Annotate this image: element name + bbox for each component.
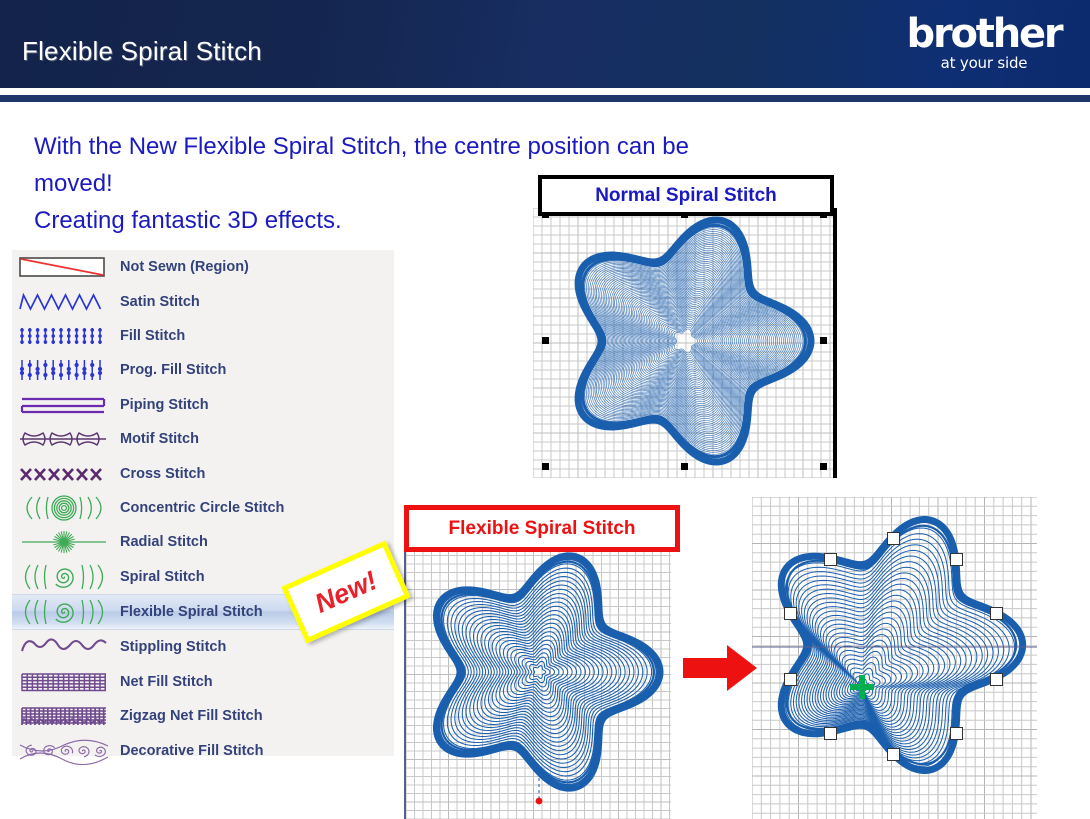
stitch-list-item[interactable]: Piping Stitch xyxy=(12,388,394,422)
transform-arrow-icon xyxy=(683,643,757,693)
brother-logo: brother at your side xyxy=(896,14,1072,76)
outline-node-handle[interactable] xyxy=(887,532,900,545)
flexible-spiral-label: Flexible Spiral Stitch xyxy=(404,505,680,552)
stitch-list-item[interactable]: Radial Stitch xyxy=(12,525,394,559)
header-divider xyxy=(0,95,1090,102)
stitch-list-item-label: Cross Stitch xyxy=(120,466,205,482)
outline-node-handle[interactable] xyxy=(887,748,900,761)
satin-stitch-icon xyxy=(18,288,110,316)
stitch-list-item[interactable]: Concentric Circle Stitch xyxy=(12,491,394,525)
flexible-spiral-after-design xyxy=(752,497,1037,819)
new-badge-label: New! xyxy=(311,567,381,618)
outline-node-handle[interactable] xyxy=(824,553,837,566)
page-title: Flexible Spiral Stitch xyxy=(22,36,262,67)
brand-tagline: at your side xyxy=(896,55,1072,71)
page-header: Flexible Spiral Stitch brother at your s… xyxy=(0,0,1090,88)
selection-handle[interactable] xyxy=(542,337,549,344)
outline-node-handle[interactable] xyxy=(950,553,963,566)
stitch-list-item-label: Prog. Fill Stitch xyxy=(120,362,226,378)
selection-handle[interactable] xyxy=(681,463,688,470)
stitch-list-item[interactable]: Satin Stitch xyxy=(12,284,394,318)
stitch-list-item-label: Spiral Stitch xyxy=(120,569,205,585)
outline-node-handle[interactable] xyxy=(990,673,1003,686)
flexible-spiral-before-panel[interactable] xyxy=(404,547,671,819)
outline-node-handle[interactable] xyxy=(784,673,797,686)
stitch-list-item[interactable]: Decorative Fill Stitch xyxy=(12,733,394,767)
stitch-list-item-label: Radial Stitch xyxy=(120,534,208,550)
spiral-stitch-icon xyxy=(18,563,110,591)
stitch-list-item-label: Motif Stitch xyxy=(120,431,199,447)
flexible-spiral-after-panel[interactable] xyxy=(752,497,1037,819)
stitch-list-item-label: Fill Stitch xyxy=(120,328,185,344)
brand-name: brother xyxy=(896,14,1072,54)
stitch-list-item-label: Not Sewn (Region) xyxy=(120,259,249,275)
selection-handle[interactable] xyxy=(820,337,827,344)
motif-stitch-icon xyxy=(18,425,110,453)
radial-stitch-icon xyxy=(18,528,110,556)
normal-spiral-label: Normal Spiral Stitch xyxy=(538,175,834,216)
piping-stitch-icon xyxy=(18,391,110,419)
stitch-list-item[interactable]: Motif Stitch xyxy=(12,422,394,456)
prog-fill-stitch-icon xyxy=(18,356,110,384)
stitch-list-item-label: Piping Stitch xyxy=(120,397,209,413)
stitch-list-item[interactable]: Not Sewn (Region) xyxy=(12,250,394,284)
stitch-list-item-label: Flexible Spiral Stitch xyxy=(120,604,263,620)
selection-handle[interactable] xyxy=(542,463,549,470)
net-fill-stitch-icon xyxy=(18,668,110,696)
stitch-list-item-label: Decorative Fill Stitch xyxy=(120,743,263,759)
outline-node-handle[interactable] xyxy=(824,727,837,740)
stitch-list-item-label: Net Fill Stitch xyxy=(120,674,213,690)
stitch-type-list[interactable]: Not Sewn (Region)Satin StitchFill Stitch… xyxy=(12,250,394,756)
stitch-list-item-label: Satin Stitch xyxy=(120,294,200,310)
stitch-list-item[interactable]: Net Fill Stitch xyxy=(12,665,394,699)
stitch-list-item[interactable]: Fill Stitch xyxy=(12,319,394,353)
stitch-list-item-label: Concentric Circle Stitch xyxy=(120,500,284,516)
stitch-list-item[interactable]: Stippling Stitch xyxy=(12,630,394,664)
normal-spiral-stitch-design xyxy=(533,208,833,478)
stitch-list-item-label: Zigzag Net Fill Stitch xyxy=(120,708,263,724)
normal-spiral-design-panel[interactable] xyxy=(533,208,837,478)
not-sewn-region-icon xyxy=(18,253,110,281)
fill-stitch-icon xyxy=(18,322,110,350)
cross-stitch-icon xyxy=(18,460,110,488)
outline-node-handle[interactable] xyxy=(950,727,963,740)
zigzag-net-fill-stitch-icon xyxy=(18,702,110,730)
selection-handle[interactable] xyxy=(820,463,827,470)
stitch-list-item[interactable]: Cross Stitch xyxy=(12,456,394,490)
outline-node-handle[interactable] xyxy=(990,607,1003,620)
outline-node-handle[interactable] xyxy=(784,607,797,620)
stitch-list-item-label: Stippling Stitch xyxy=(120,639,226,655)
stitch-list-item[interactable]: Prog. Fill Stitch xyxy=(12,353,394,387)
flexible-spiral-stitch-icon xyxy=(18,598,110,626)
decorative-fill-stitch-icon xyxy=(18,737,110,765)
stitch-list-item[interactable]: Zigzag Net Fill Stitch xyxy=(12,699,394,733)
flexible-spiral-before-design xyxy=(406,547,671,819)
concentric-circle-stitch-icon xyxy=(18,494,110,522)
stippling-stitch-icon xyxy=(18,633,110,661)
